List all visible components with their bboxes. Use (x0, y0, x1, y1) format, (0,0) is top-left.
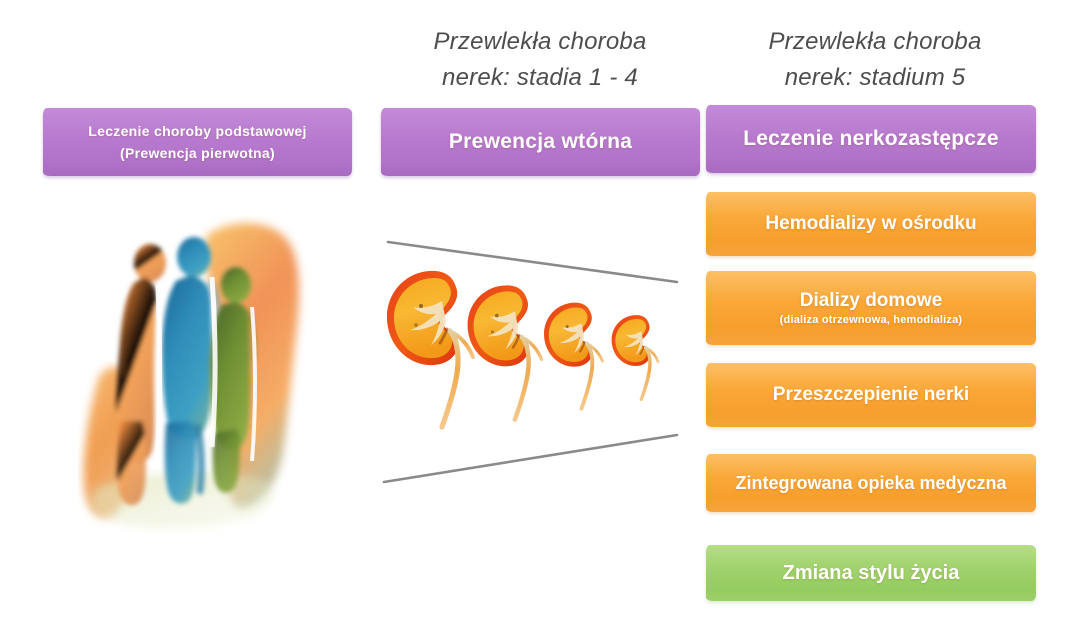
treatment-bar-lifestyle-change: Zmiana stylu życia (706, 545, 1036, 601)
treatment-bar-home-dialysis: Dializy domowe (dializa otrzewnowa, hemo… (706, 271, 1036, 345)
treatment-bar-title: Hemodializy w ośrodku (765, 213, 976, 235)
kidney-stage-4 (612, 315, 658, 399)
kidney-stage-2 (468, 285, 542, 419)
column-header-stages-1-4: Przewlekła choroba nerek: stadia 1 - 4 (375, 24, 705, 96)
treatment-bar-title: Zintegrowana opieka medyczna (735, 473, 1006, 494)
treatment-bar-kidney-transplant: Przeszczepienie nerki (706, 363, 1036, 427)
kidney-stage-1 (387, 271, 473, 427)
kidney-progression-illustration (370, 225, 690, 495)
kidney-stage-3 (544, 303, 603, 409)
banner-renal-replacement-title: Leczenie nerkozastępcze (743, 127, 999, 151)
banner-primary-prevention-title: Leczenie choroby podstawowej (88, 121, 306, 142)
treatment-bar-title: Dializy domowe (800, 290, 943, 312)
banner-secondary-prevention: Prewencja wtórna (381, 108, 700, 176)
treatment-bar-title: Zmiana stylu życia (783, 562, 960, 585)
banner-primary-prevention-subtitle: (Prewencja pierwotna) (120, 143, 275, 164)
watercolor-people-illustration (60, 215, 350, 540)
treatment-bar-incenter-hemodialysis: Hemodializy w ośrodku (706, 192, 1036, 256)
banner-renal-replacement: Leczenie nerkozastępcze (706, 105, 1036, 173)
banner-secondary-prevention-title: Prewencja wtórna (449, 130, 632, 154)
treatment-bar-subtitle: (dializa otrzewnowa, hemodializa) (780, 314, 963, 326)
treatment-bar-title: Przeszczepienie nerki (773, 384, 969, 406)
treatment-bar-integrated-care: Zintegrowana opieka medyczna (706, 454, 1036, 512)
banner-primary-prevention: Leczenie choroby podstawowej (Prewencja … (43, 108, 352, 176)
column-header-stage-5: Przewlekła choroba nerek: stadium 5 (710, 24, 1040, 96)
